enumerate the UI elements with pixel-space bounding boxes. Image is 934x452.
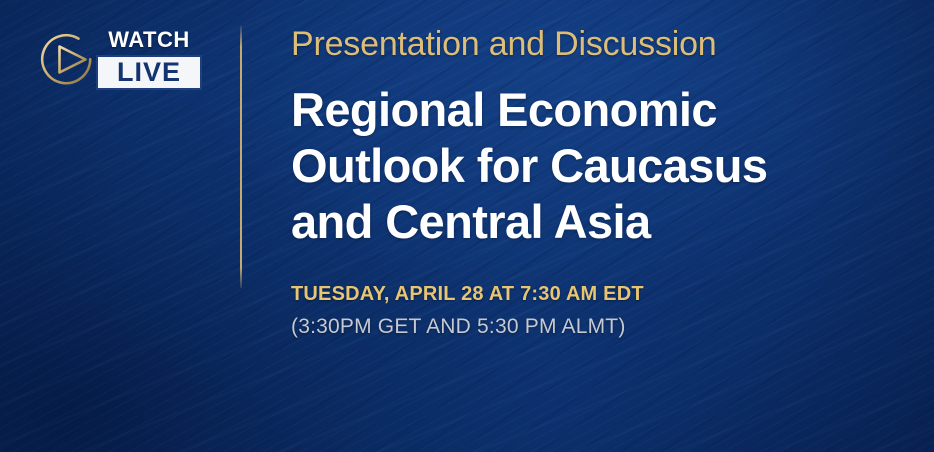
event-date-primary: TUESDAY, APRIL 28 AT 7:30 AM EDT	[291, 281, 911, 307]
headline-line-3: and Central Asia	[291, 194, 911, 250]
event-promo-banner: WATCH LIVE Presentation and Discussion R…	[0, 0, 934, 452]
watch-label: WATCH	[96, 28, 202, 52]
event-type-eyebrow: Presentation and Discussion	[291, 22, 911, 66]
event-datetime: TUESDAY, APRIL 28 AT 7:30 AM EDT (3:30PM…	[291, 281, 911, 340]
watch-live-badge[interactable]: WATCH LIVE	[34, 28, 204, 92]
live-label: LIVE	[96, 55, 202, 90]
banner-content: Presentation and Discussion Regional Eco…	[291, 22, 911, 340]
headline-line-1: Regional Economic	[291, 82, 911, 138]
vertical-divider	[240, 26, 242, 288]
headline-line-2: Outlook for Caucasus	[291, 138, 911, 194]
event-date-secondary: (3:30PM GET AND 5:30 PM ALMT)	[291, 314, 911, 340]
page-title: Regional Economic Outlook for Caucasus a…	[291, 82, 911, 250]
play-circle-icon[interactable]	[38, 31, 95, 88]
watch-live-wordmark: WATCH LIVE	[96, 28, 202, 90]
